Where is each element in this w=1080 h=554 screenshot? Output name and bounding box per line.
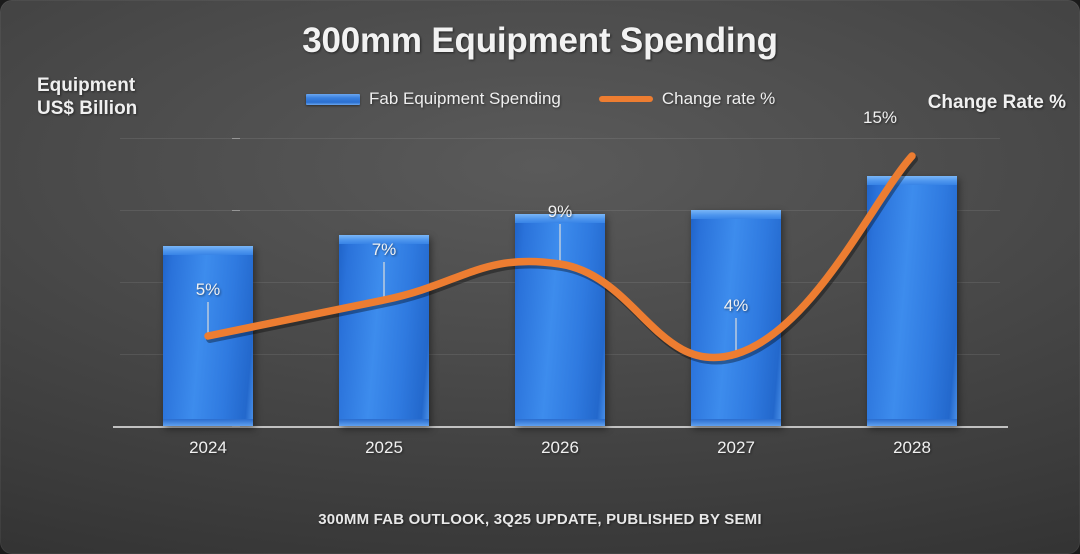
category-label-2028: 2028 (893, 438, 931, 458)
category-label-2026: 2026 (541, 438, 579, 458)
line-series-overlay (120, 138, 1000, 426)
category-axis-line (113, 426, 1008, 428)
left-axis-title: Equipment US$ Billion (37, 74, 137, 120)
data-label-2027: 4% (724, 296, 749, 316)
left-axis-title-line1: Equipment (37, 74, 137, 97)
left-axis-tickmark (232, 426, 240, 427)
legend-item-change-rate[interactable]: Change rate % (599, 89, 775, 109)
category-label-2025: 2025 (365, 438, 403, 458)
data-label-2026: 9% (548, 202, 573, 222)
category-label-2027: 2027 (717, 438, 755, 458)
plot-area: $-$40$80$120$1600%2%4%6%8%10%12%14%16%20… (120, 138, 1000, 426)
data-label-2028: 15% (863, 108, 897, 128)
legend-label-change-rate: Change rate % (662, 89, 775, 109)
chart-slide: 300mm Equipment Spending Equipment US$ B… (0, 0, 1080, 554)
legend-bar-swatch-icon (306, 94, 360, 105)
line-shadow (210, 159, 914, 361)
chart-footnote: 300MM FAB OUTLOOK, 3Q25 UPDATE, PUBLISHE… (0, 511, 1080, 528)
legend-line-swatch-icon (599, 96, 653, 102)
chart-legend: Fab Equipment Spending Change rate % (306, 89, 775, 109)
data-label-2024: 5% (196, 280, 221, 300)
data-label-2025: 7% (372, 240, 397, 260)
legend-label-fab-equipment-spending: Fab Equipment Spending (369, 89, 561, 109)
left-axis-title-line2: US$ Billion (37, 97, 137, 120)
right-axis-title: Change Rate % (928, 92, 1066, 114)
chart-title: 300mm Equipment Spending (0, 21, 1080, 61)
category-label-2024: 2024 (189, 438, 227, 458)
legend-item-fab-equipment-spending[interactable]: Fab Equipment Spending (306, 89, 561, 109)
